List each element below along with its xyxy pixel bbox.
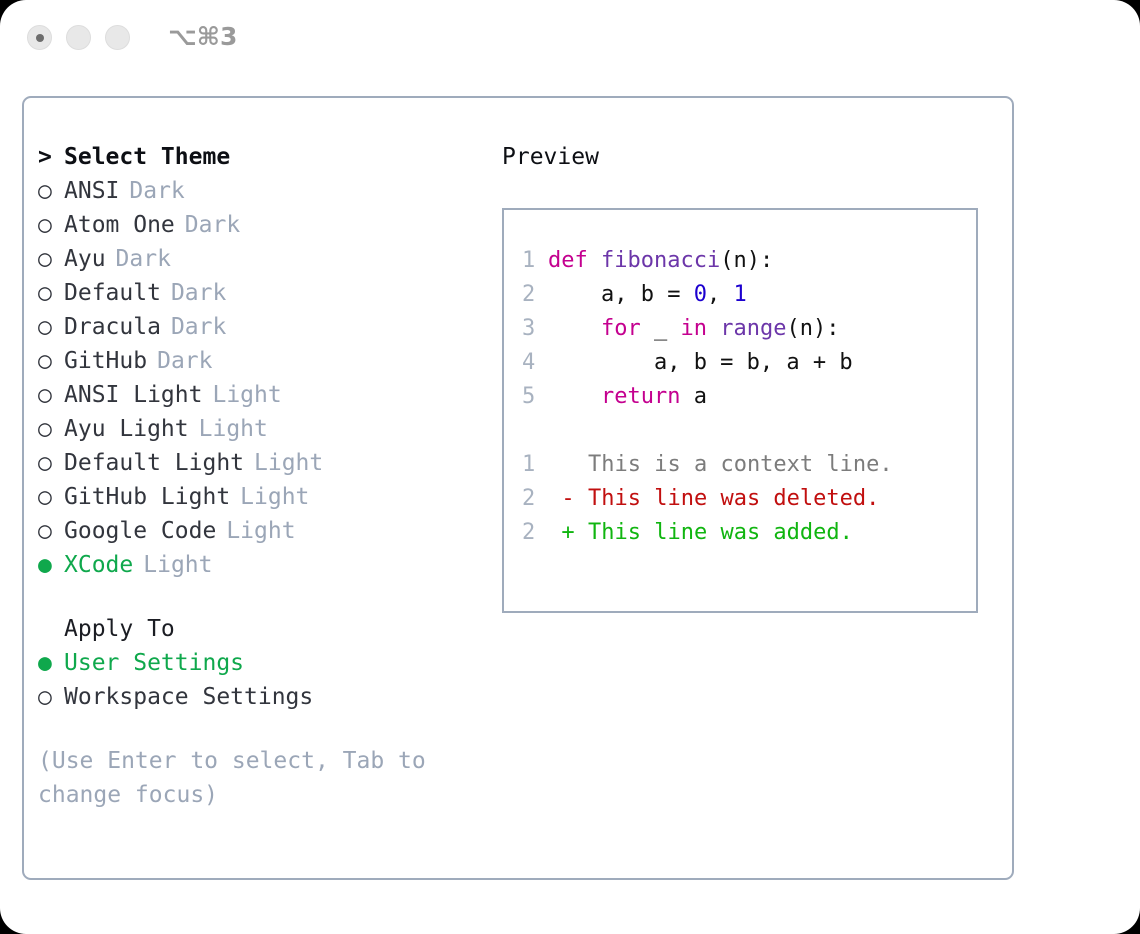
code-sample: 1def fibonacci(n):2 a, b = 0, 13 for _ i… bbox=[504, 244, 976, 414]
theme-name: Default Light bbox=[64, 446, 244, 480]
theme-list: ○ANSIDark○Atom OneDark○AyuDark○DefaultDa… bbox=[38, 174, 498, 582]
diff-marker-ctx bbox=[548, 448, 588, 482]
code-token-txt bbox=[548, 316, 601, 341]
spacer-before-hint bbox=[38, 714, 498, 744]
radio-selected-icon: ● bbox=[38, 548, 64, 582]
line-number: 2 bbox=[522, 482, 548, 516]
code-token-txt: (n): bbox=[786, 316, 839, 341]
theme-name: ANSI bbox=[64, 174, 119, 208]
radio-unselected-icon: ○ bbox=[38, 310, 64, 344]
apply-to-option[interactable]: ○Workspace Settings bbox=[38, 680, 498, 714]
diff-line-text: This is a context line. bbox=[588, 448, 893, 482]
radio-unselected-icon: ○ bbox=[38, 344, 64, 378]
radio-unselected-icon: ○ bbox=[38, 514, 64, 548]
theme-variant-badge: Dark bbox=[185, 208, 240, 242]
radio-unselected-icon: ○ bbox=[38, 174, 64, 208]
theme-variant-badge: Light bbox=[240, 480, 309, 514]
preview-heading: Preview bbox=[502, 140, 1002, 174]
code-line-content: a, b = b, a + b bbox=[548, 346, 853, 380]
theme-list-item[interactable]: ○GitHub LightLight bbox=[38, 480, 498, 514]
diff-line: 2+This line was added. bbox=[504, 516, 976, 550]
code-token-fn: fibonacci bbox=[601, 248, 720, 273]
theme-variant-badge: Dark bbox=[157, 344, 212, 378]
apply-to-option[interactable]: ●User Settings bbox=[38, 646, 498, 680]
radio-unselected-icon: ○ bbox=[38, 242, 64, 276]
apply-to-option-label: User Settings bbox=[64, 646, 244, 680]
window-dot-2[interactable] bbox=[66, 25, 91, 50]
diff-marker-del: - bbox=[548, 482, 588, 516]
line-number: 2 bbox=[522, 516, 548, 550]
theme-name: GitHub Light bbox=[64, 480, 230, 514]
apply-to-option-label: Workspace Settings bbox=[64, 680, 313, 714]
window-dot-3[interactable] bbox=[105, 25, 130, 50]
radio-unselected-icon: ○ bbox=[38, 480, 64, 514]
radio-unselected-icon: ○ bbox=[38, 412, 64, 446]
theme-variant-badge: Light bbox=[254, 446, 323, 480]
theme-variant-badge: Light bbox=[199, 412, 268, 446]
theme-list-item[interactable]: ○DefaultDark bbox=[38, 276, 498, 310]
theme-name: GitHub bbox=[64, 344, 147, 378]
code-token-kw: def bbox=[548, 248, 601, 273]
diff-line: 1This is a context line. bbox=[504, 448, 976, 482]
code-line: 3 for _ in range(n): bbox=[504, 312, 976, 346]
theme-variant-badge: Light bbox=[143, 548, 212, 582]
code-line: 1def fibonacci(n): bbox=[504, 244, 976, 278]
theme-name: ANSI Light bbox=[64, 378, 202, 412]
code-token-kw: in bbox=[680, 316, 707, 341]
theme-variant-badge: Dark bbox=[116, 242, 171, 276]
line-number: 4 bbox=[522, 346, 548, 380]
theme-list-item[interactable]: ●XCodeLight bbox=[38, 548, 498, 582]
code-token-txt bbox=[548, 384, 601, 409]
theme-name: Ayu bbox=[64, 242, 106, 276]
app-window: ⌥⌘3 > Select Theme ○ANSIDark○Atom OneDar… bbox=[0, 0, 1140, 934]
line-number: 3 bbox=[522, 312, 548, 346]
code-token-txt: a, b = b, a + b bbox=[548, 350, 853, 375]
theme-variant-badge: Light bbox=[226, 514, 295, 548]
theme-list-item[interactable]: ○Google CodeLight bbox=[38, 514, 498, 548]
theme-list-item[interactable]: ○ANSIDark bbox=[38, 174, 498, 208]
diff-marker-add: + bbox=[548, 516, 588, 550]
theme-variant-badge: Light bbox=[212, 378, 281, 412]
theme-name: Default bbox=[64, 276, 161, 310]
code-token-kw: for bbox=[601, 316, 641, 341]
apply-to-heading: Apply To bbox=[38, 612, 498, 646]
radio-unselected-icon: ○ bbox=[38, 446, 64, 480]
theme-name: Atom One bbox=[64, 208, 175, 242]
code-line-content: def fibonacci(n): bbox=[548, 244, 773, 278]
radio-unselected-icon: ○ bbox=[38, 680, 64, 714]
theme-list-item[interactable]: ○Ayu LightLight bbox=[38, 412, 498, 446]
theme-name: Dracula bbox=[64, 310, 161, 344]
theme-selector-column: > Select Theme ○ANSIDark○Atom OneDark○Ay… bbox=[38, 140, 498, 812]
content-panel: > Select Theme ○ANSIDark○Atom OneDark○Ay… bbox=[22, 96, 1014, 880]
code-line-content: return a bbox=[548, 380, 707, 414]
spacer-before-apply bbox=[38, 582, 498, 612]
code-token-txt: _ bbox=[641, 316, 681, 341]
preview-box: 1def fibonacci(n):2 a, b = 0, 13 for _ i… bbox=[502, 208, 978, 613]
code-token-num: 1 bbox=[733, 282, 746, 307]
radio-unselected-icon: ○ bbox=[38, 276, 64, 310]
diff-sample: 1This is a context line.2-This line was … bbox=[504, 448, 976, 550]
select-theme-heading: > Select Theme bbox=[38, 140, 498, 174]
theme-list-item[interactable]: ○GitHubDark bbox=[38, 344, 498, 378]
title-bar: ⌥⌘3 bbox=[0, 0, 1140, 78]
code-token-fn: range bbox=[720, 316, 786, 341]
theme-list-item[interactable]: ○Default LightLight bbox=[38, 446, 498, 480]
theme-name: Ayu Light bbox=[64, 412, 189, 446]
theme-list-item[interactable]: ○Atom OneDark bbox=[38, 208, 498, 242]
code-token-txt: a, b = bbox=[548, 282, 694, 307]
code-token-kw: return bbox=[601, 384, 680, 409]
keyboard-hint-text: (Use Enter to select, Tab to change focu… bbox=[38, 744, 442, 812]
code-token-num: 0 bbox=[694, 282, 707, 307]
theme-variant-badge: Dark bbox=[171, 276, 226, 310]
line-number: 5 bbox=[522, 380, 548, 414]
code-line-content: a, b = 0, 1 bbox=[548, 278, 747, 312]
keyboard-shortcut-label: ⌥⌘3 bbox=[168, 23, 237, 51]
theme-name: XCode bbox=[64, 548, 133, 582]
code-token-txt: , bbox=[707, 282, 734, 307]
code-line: 2 a, b = 0, 1 bbox=[504, 278, 976, 312]
theme-variant-badge: Dark bbox=[171, 310, 226, 344]
code-line: 4 a, b = b, a + b bbox=[504, 346, 976, 380]
code-token-txt: a bbox=[680, 384, 707, 409]
line-number: 2 bbox=[522, 278, 548, 312]
code-token-txt bbox=[707, 316, 720, 341]
code-token-txt: (n): bbox=[720, 248, 773, 273]
apply-to-options: ●User Settings○Workspace Settings bbox=[38, 646, 498, 714]
radio-unselected-icon: ○ bbox=[38, 208, 64, 242]
preview-column: Preview 1def fibonacci(n):2 a, b = 0, 13… bbox=[502, 140, 1002, 613]
radio-selected-icon: ● bbox=[38, 646, 64, 680]
radio-unselected-icon: ○ bbox=[38, 378, 64, 412]
window-controls bbox=[27, 25, 130, 50]
theme-name: Google Code bbox=[64, 514, 216, 548]
theme-list-item[interactable]: ○ANSI LightLight bbox=[38, 378, 498, 412]
diff-line-text: This line was added. bbox=[588, 516, 853, 550]
diff-line-text: This line was deleted. bbox=[588, 482, 879, 516]
theme-variant-badge: Dark bbox=[129, 174, 184, 208]
code-line-content: for _ in range(n): bbox=[548, 312, 839, 346]
code-line: 5 return a bbox=[504, 380, 976, 414]
select-theme-heading-label: Select Theme bbox=[64, 140, 230, 174]
diff-line: 2-This line was deleted. bbox=[504, 482, 976, 516]
theme-list-item[interactable]: ○DraculaDark bbox=[38, 310, 498, 344]
line-number: 1 bbox=[522, 448, 548, 482]
theme-list-item[interactable]: ○AyuDark bbox=[38, 242, 498, 276]
line-number: 1 bbox=[522, 244, 548, 278]
cursor-arrow-icon: > bbox=[38, 140, 64, 174]
preview-gap bbox=[504, 414, 976, 448]
record-indicator-dot[interactable] bbox=[27, 25, 52, 50]
